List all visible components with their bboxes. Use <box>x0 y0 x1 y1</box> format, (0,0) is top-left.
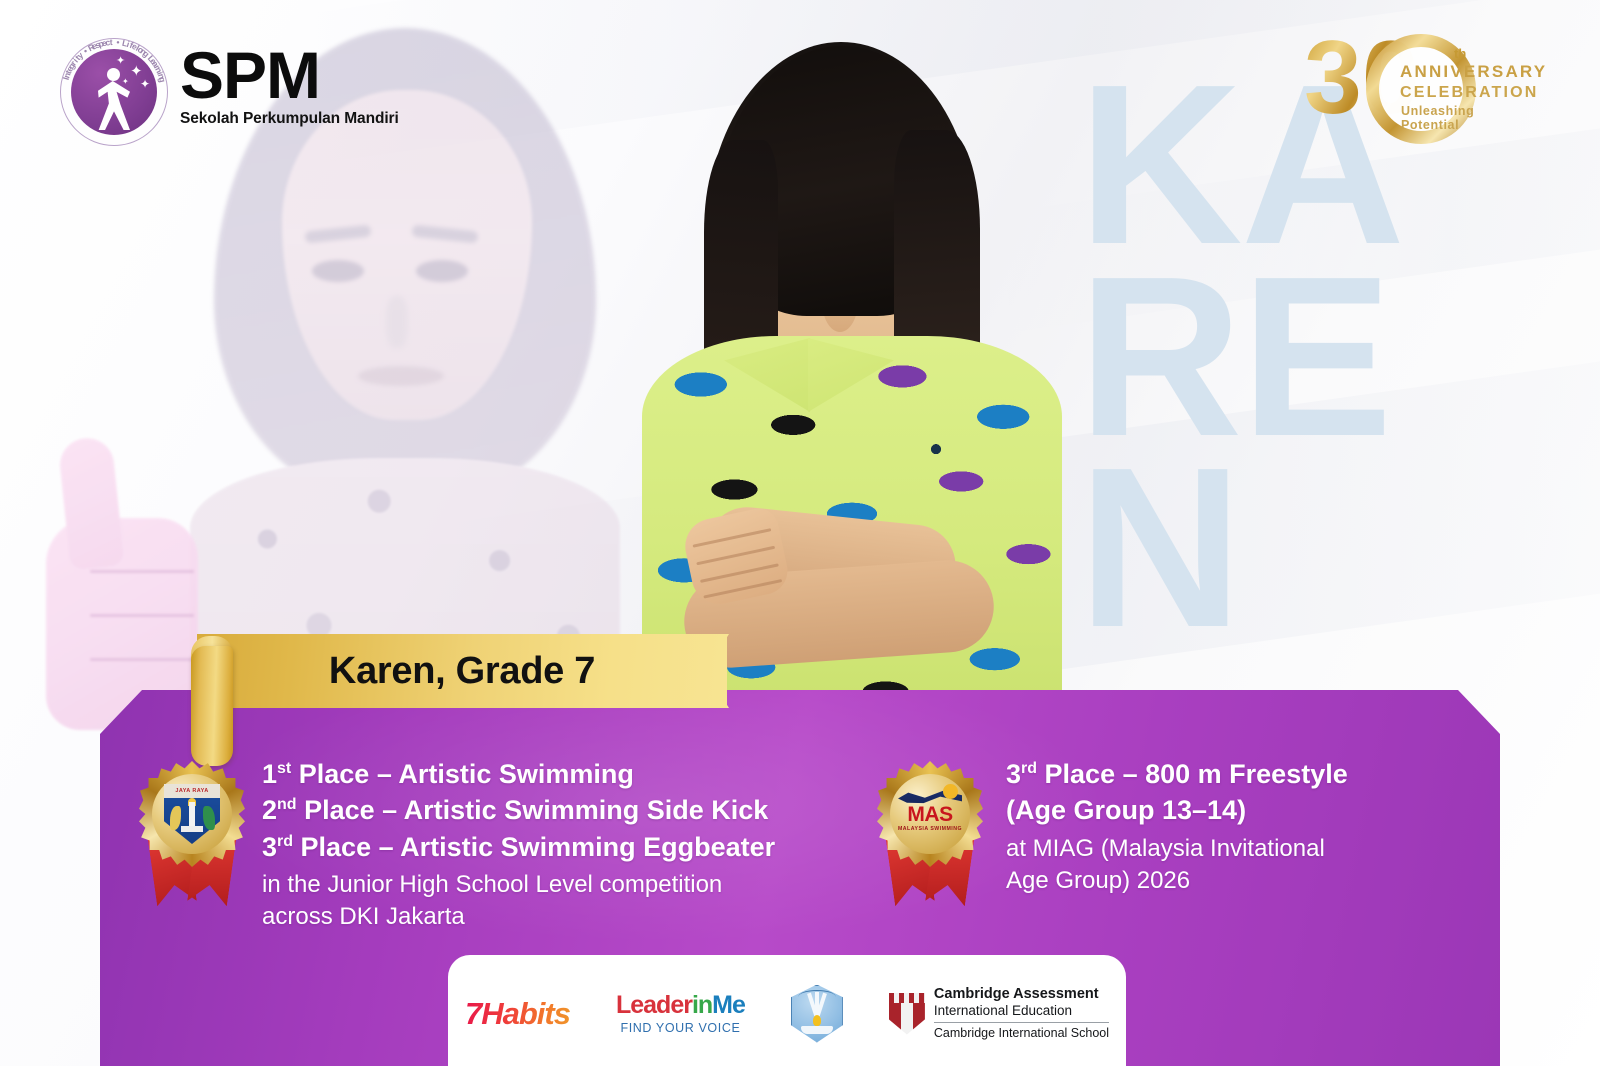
star-icon: ✦ <box>122 78 129 86</box>
ghost-eyebrow <box>412 225 479 244</box>
achievement-line: 3rd Place – Artistic Swimming Eggbeater <box>262 829 862 865</box>
achievement-note: at MIAG (Malaysia Invitational Age Group… <box>1006 833 1426 897</box>
achievement-ordinal: st <box>277 760 291 777</box>
thumb-finger <box>57 436 124 571</box>
malaysia-swimming-medal-icon: MAS MALAYSIA SWIMMING <box>874 758 986 908</box>
monas-tower <box>189 802 195 828</box>
spm-logo: Integrity • Respect • Lifelong Learning … <box>60 36 410 151</box>
cambridge-line2: International Education <box>934 1003 1109 1019</box>
student-portrait-photo <box>556 20 1076 720</box>
lim-in: in <box>692 991 712 1019</box>
achievement-line: 1st Place – Artistic Swimming <box>262 756 862 792</box>
ghost-eye <box>312 260 364 282</box>
achievement-rank: 2 <box>262 795 277 825</box>
achievement-ordinal: nd <box>277 796 297 813</box>
watermark-student-name: KA RE N <box>1078 70 1538 690</box>
achievement-rank: 1 <box>262 759 277 789</box>
cambridge-shield-icon <box>889 993 925 1035</box>
mas-subtitle: MALAYSIA SWIMMING <box>896 826 964 832</box>
achievement-ordinal: rd <box>1021 760 1037 777</box>
cambridge-line1: Cambridge Assessment <box>934 986 1109 1003</box>
tutwuri-book-icon <box>801 1026 833 1034</box>
cambridge-wordmark: Cambridge Assessment International Educa… <box>934 986 1109 1041</box>
spm-emblem-icon: Integrity • Respect • Lifelong Learning … <box>60 38 168 146</box>
achievement-line: (Age Group 13–14) <box>1006 792 1426 828</box>
student-name-label: Karen, Grade 7 <box>197 634 727 708</box>
achievement-line: 2nd Place – Artistic Swimming Side Kick <box>262 792 862 828</box>
partner-logo-strip: 7Habits LeaderinMe FIND YOUR VOICE Cambr… <box>448 955 1126 1066</box>
achievement-group-right: 3rd Place – 800 m Freestyle (Age Group 1… <box>1006 756 1426 897</box>
monas-base <box>181 826 203 832</box>
mas-logo: MAS MALAYSIA SWIMMING <box>896 782 964 840</box>
tutwuri-arc-text <box>798 990 836 1004</box>
anniversary-line2: CELEBRATION <box>1400 84 1539 102</box>
dki-jakarta-medal-icon: JAYA RAYA <box>136 758 248 908</box>
thumb-crease <box>90 570 194 573</box>
spm-logo-name: SPM <box>180 44 399 107</box>
portrait-finger <box>696 546 775 566</box>
tut-wuri-handayani-logo <box>791 985 843 1043</box>
anniversary-line1: ANNIVERSARY <box>1400 62 1547 82</box>
sun-icon <box>943 784 958 799</box>
anniversary-tagline: Unleashing Potential <box>1401 104 1514 132</box>
achievement-group-left: 1st Place – Artistic Swimming 2nd Place … <box>262 756 862 933</box>
achievement-text: Place – Artistic Swimming Side Kick <box>297 795 769 825</box>
crest-motto: JAYA RAYA <box>164 784 220 798</box>
spm-person-body <box>98 81 130 130</box>
jakarta-crest-icon: JAYA RAYA <box>164 784 220 844</box>
ghost-nose <box>386 296 408 348</box>
spm-wordmark: SPM Sekolah Perkumpulan Mandiri <box>180 44 399 128</box>
lim-leader: Leader <box>616 991 692 1019</box>
ghost-mouth <box>358 366 444 386</box>
star-icon: ✦ <box>116 56 125 67</box>
ghost-eyebrow <box>305 225 372 244</box>
7habits-logo: 7Habits <box>465 996 570 1032</box>
portrait-finger <box>693 528 772 548</box>
anniversary-logo: 30 th ANNIVERSARY CELEBRATION Unleashing… <box>1304 30 1514 130</box>
achievement-rank: 3 <box>1006 759 1021 789</box>
tutwuri-flame-icon <box>813 1015 821 1026</box>
ghost-eye <box>416 260 468 282</box>
achievement-text: Place – Artistic Swimming Eggbeater <box>293 832 775 862</box>
spm-logo-subtitle: Sekolah Perkumpulan Mandiri <box>180 110 399 128</box>
achievement-note: in the Junior High School Level competit… <box>262 869 862 933</box>
mas-wordmark: MAS <box>896 804 964 825</box>
thumb-crease <box>90 614 194 617</box>
anniversary-ordinal: th <box>1454 46 1466 61</box>
achievement-rank: 3 <box>262 832 277 862</box>
thumb-crease <box>90 658 194 661</box>
achievement-text: Place – 800 m Freestyle <box>1037 759 1348 789</box>
spm-motto-char: g <box>157 76 168 84</box>
cambridge-logo: Cambridge Assessment International Educa… <box>889 986 1109 1041</box>
portrait-finger <box>700 563 779 583</box>
leader-in-me-wordmark: LeaderinMe <box>616 992 745 1018</box>
achievement-text: Place – Artistic Swimming <box>291 759 634 789</box>
achievement-poster: KA RE N Integrity • Respect • Lifelong L… <box>0 0 1600 1066</box>
star-icon: ✦ <box>140 78 150 90</box>
leader-in-me-logo: LeaderinMe FIND YOUR VOICE <box>616 992 745 1034</box>
spm-person-head <box>107 68 120 81</box>
spm-motto-char: t <box>109 37 113 47</box>
spm-motto-char: • <box>116 37 120 47</box>
achievement-line: 3rd Place – 800 m Freestyle <box>1006 756 1426 792</box>
lim-me: Me <box>712 991 745 1019</box>
leader-in-me-tagline: FIND YOUR VOICE <box>616 1022 745 1035</box>
achievement-ordinal: rd <box>277 833 293 850</box>
cambridge-line3: Cambridge International School <box>934 1022 1109 1041</box>
